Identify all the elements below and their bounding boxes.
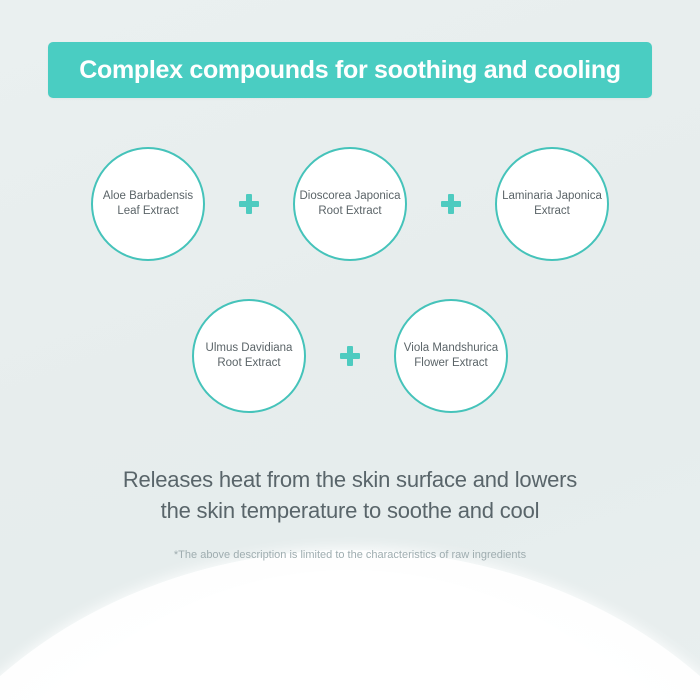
plus-icon bbox=[239, 194, 259, 214]
ingredient-circle-viola-mandshurica: Viola Mandshurica Flower Extract bbox=[394, 299, 508, 413]
ingredient-circle-ulmus-davidiana: Ulmus Davidiana Root Extract bbox=[192, 299, 306, 413]
ingredient-label: Ulmus Davidiana Root Extract bbox=[202, 341, 297, 371]
ingredient-label: Viola Mandshurica Flower Extract bbox=[400, 341, 502, 371]
ingredient-circle-laminaria-japonica: Laminaria Japonica Extract bbox=[495, 147, 609, 261]
page-title: Complex compounds for soothing and cooli… bbox=[79, 56, 621, 85]
ingredient-row-2: Ulmus Davidiana Root Extract Viola Mands… bbox=[0, 299, 700, 413]
description-text: Releases heat from the skin surface and … bbox=[0, 464, 700, 526]
ingredient-circle-aloe-barbadensis: Aloe Barbadensis Leaf Extract bbox=[91, 147, 205, 261]
ingredient-label: Dioscorea Japonica Root Extract bbox=[295, 189, 404, 219]
ingredient-circle-dioscorea-japonica: Dioscorea Japonica Root Extract bbox=[293, 147, 407, 261]
footnote-text: *The above description is limited to the… bbox=[0, 549, 700, 561]
ingredient-label: Aloe Barbadensis Leaf Extract bbox=[99, 189, 197, 219]
header-banner: Complex compounds for soothing and cooli… bbox=[48, 42, 652, 98]
plus-icon bbox=[441, 194, 461, 214]
ingredient-row-1: Aloe Barbadensis Leaf Extract Dioscorea … bbox=[0, 147, 700, 261]
plus-icon bbox=[340, 346, 360, 366]
ingredient-label: Laminaria Japonica Extract bbox=[498, 189, 606, 219]
product-info-panel: Complex compounds for soothing and cooli… bbox=[0, 0, 700, 700]
